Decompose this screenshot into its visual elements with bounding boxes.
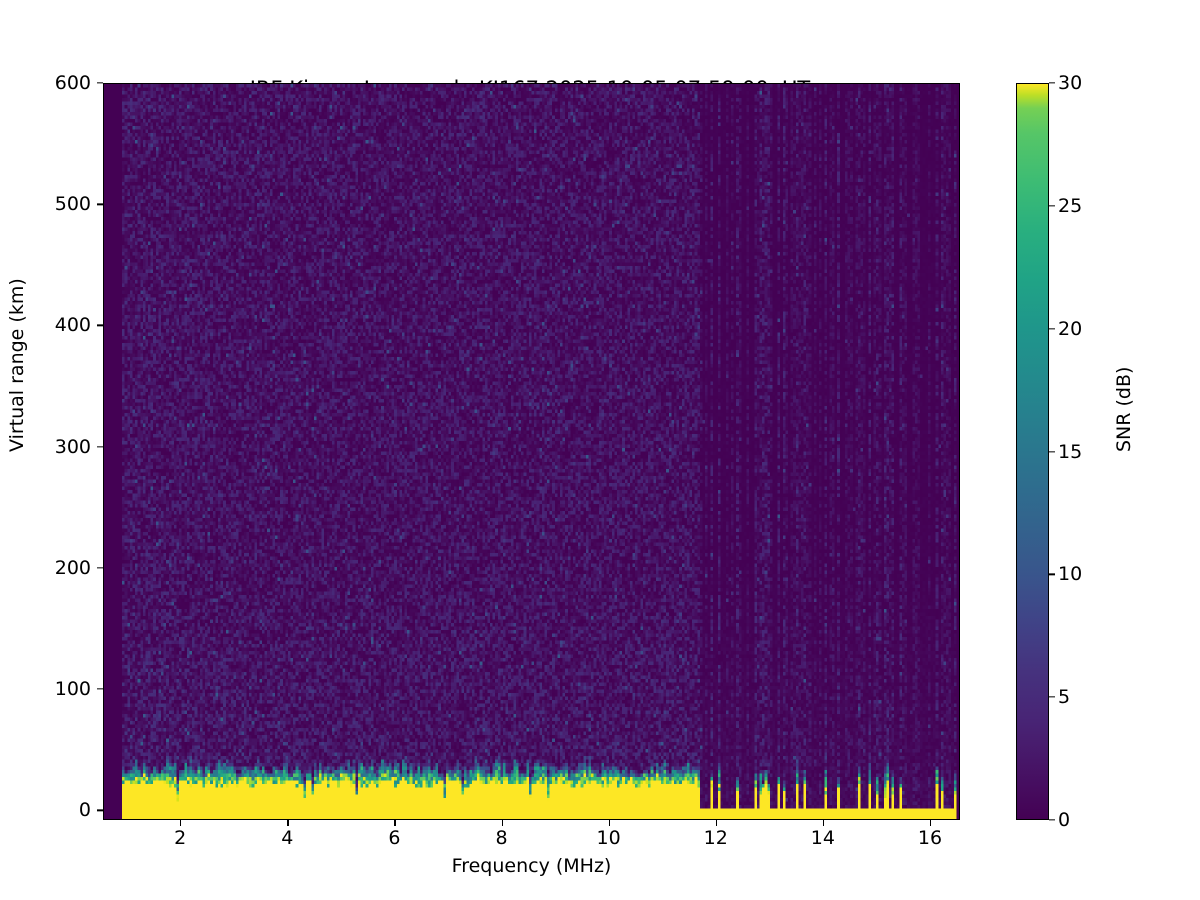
colorbar-tick-label: 10	[1058, 563, 1082, 585]
y-tick-mark	[97, 82, 103, 83]
colorbar-tick-mark	[1049, 205, 1055, 206]
x-axis-label: Frequency (MHz)	[103, 855, 960, 877]
colorbar-tick-mark	[1049, 697, 1055, 698]
x-tick-label: 2	[140, 827, 220, 849]
colorbar-tick-label: 15	[1058, 441, 1082, 463]
ionogram-plot-area[interactable]	[103, 83, 960, 820]
y-tick-mark	[97, 204, 103, 205]
y-tick-label: 400	[21, 314, 91, 336]
x-tick-label: 16	[890, 827, 970, 849]
colorbar-tick-mark	[1049, 82, 1055, 83]
x-tick-mark	[502, 820, 503, 826]
ionogram-heatmap	[104, 84, 959, 819]
colorbar-label: SNR (dB)	[1113, 367, 1135, 452]
y-tick-label: 600	[21, 72, 91, 94]
x-tick-mark	[716, 820, 717, 826]
x-tick-mark	[823, 820, 824, 826]
colorbar-tick-mark	[1049, 819, 1055, 820]
colorbar[interactable]	[1016, 83, 1049, 820]
colorbar-tick-label: 30	[1058, 72, 1082, 94]
colorbar-tick-label: 25	[1058, 195, 1082, 217]
colorbar-gradient	[1017, 84, 1048, 819]
y-axis-label: Virtual range (km)	[6, 278, 28, 452]
colorbar-tick-label: 20	[1058, 318, 1082, 340]
colorbar-tick-mark	[1049, 574, 1055, 575]
x-tick-label: 8	[462, 827, 542, 849]
colorbar-tick-label: 0	[1058, 809, 1070, 831]
x-tick-label: 4	[247, 827, 327, 849]
y-tick-label: 100	[21, 678, 91, 700]
ionogram-figure: IRF Kiruna Ionosonde KI167 2025-10-05 07…	[0, 0, 1200, 900]
y-tick-label: 200	[21, 557, 91, 579]
y-tick-mark	[97, 446, 103, 447]
y-tick-mark	[97, 567, 103, 568]
x-tick-label: 6	[354, 827, 434, 849]
x-tick-mark	[394, 820, 395, 826]
y-tick-label: 300	[21, 436, 91, 458]
y-tick-mark	[97, 810, 103, 811]
y-tick-mark	[97, 688, 103, 689]
x-tick-mark	[609, 820, 610, 826]
x-tick-label: 12	[676, 827, 756, 849]
y-tick-label: 500	[21, 193, 91, 215]
x-tick-mark	[180, 820, 181, 826]
y-tick-label: 0	[21, 799, 91, 821]
x-tick-label: 10	[569, 827, 649, 849]
x-tick-mark	[287, 820, 288, 826]
colorbar-tick-label: 5	[1058, 686, 1070, 708]
colorbar-tick-mark	[1049, 451, 1055, 452]
x-tick-mark	[930, 820, 931, 826]
x-tick-label: 14	[783, 827, 863, 849]
y-tick-mark	[97, 325, 103, 326]
colorbar-tick-mark	[1049, 328, 1055, 329]
